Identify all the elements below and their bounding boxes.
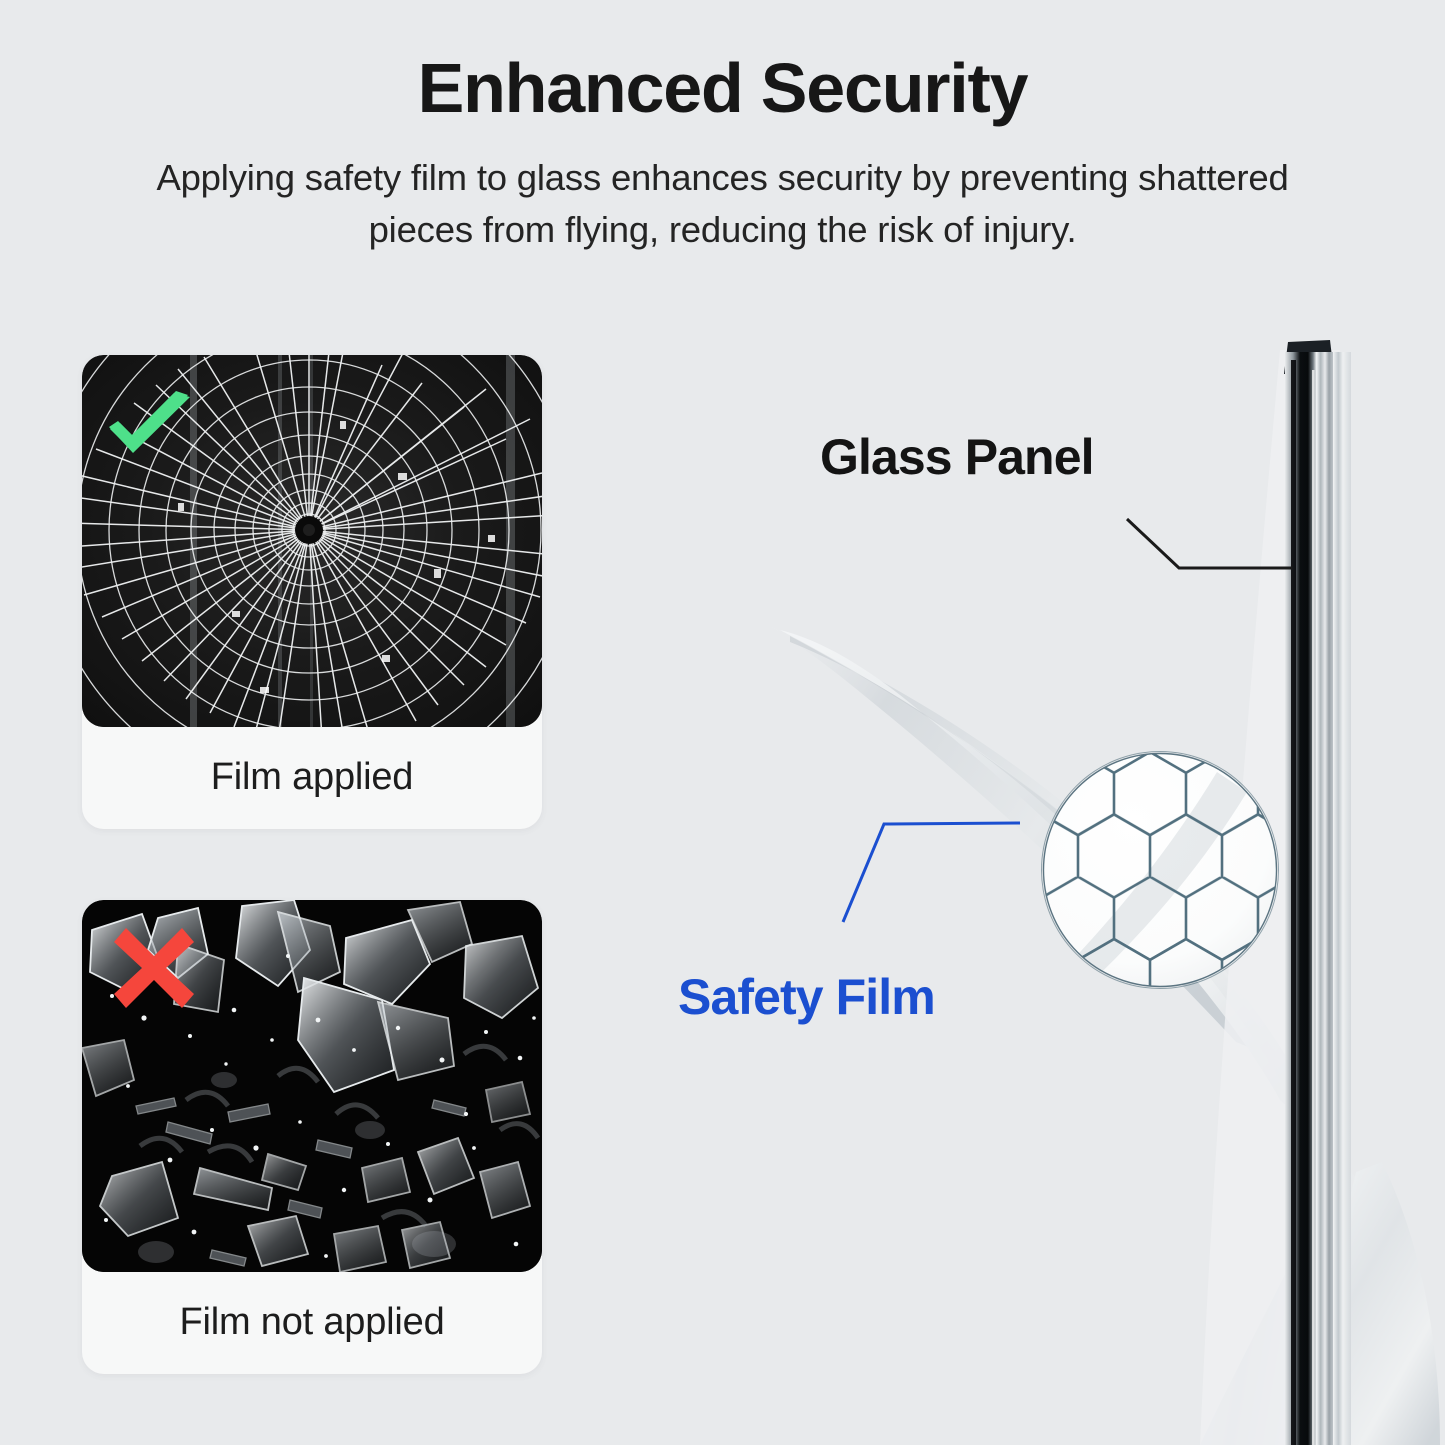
infographic-canvas: Enhanced Security Applying safety film t… (0, 0, 1445, 1445)
radial-crack-pattern (82, 355, 542, 727)
label-glass-panel: Glass Panel (820, 428, 1094, 486)
glass-panel-specular (1312, 370, 1315, 1445)
card-caption-film-applied: Film applied (82, 727, 542, 829)
honeycomb-pattern-icon (1042, 752, 1278, 988)
cracked-glass-photo (82, 355, 542, 727)
flying-shards-photo (82, 900, 542, 1272)
honeycomb-magnifier (1042, 752, 1278, 988)
card-caption-film-not-applied: Film not applied (82, 1272, 542, 1374)
comparison-card-film-applied: Film applied (82, 355, 542, 829)
header: Enhanced Security Applying safety film t… (0, 52, 1445, 257)
glass-panel-face (1333, 352, 1351, 1445)
page-title: Enhanced Security (0, 52, 1445, 126)
label-safety-film: Safety Film (678, 968, 935, 1026)
comparison-card-film-not-applied: Film not applied (82, 900, 542, 1374)
page-subtitle: Applying safety film to glass enhances s… (123, 152, 1323, 258)
glass-panel-dark-line (1291, 360, 1296, 1445)
glass-shards-pattern (82, 900, 542, 1272)
